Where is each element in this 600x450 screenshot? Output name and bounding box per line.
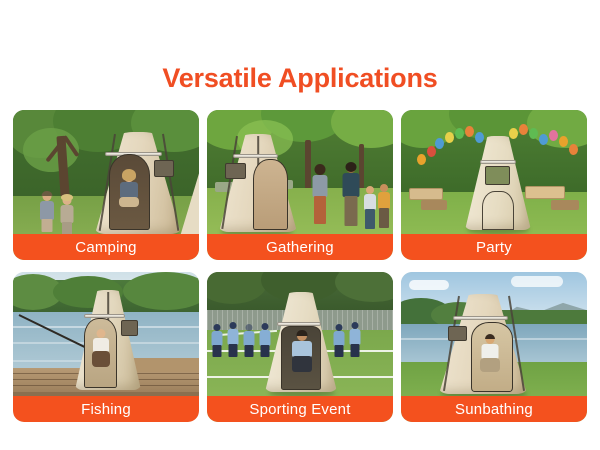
player-legs (213, 345, 222, 357)
player-figure (349, 322, 361, 358)
person-legs (92, 351, 110, 367)
child-figure (377, 184, 391, 230)
player-helmet (352, 322, 359, 329)
card-label-text: Party (476, 240, 512, 255)
player-helmet (246, 324, 253, 331)
balloon (539, 134, 548, 145)
player-jersey (228, 329, 239, 345)
cloud (409, 280, 449, 290)
seated-man (478, 335, 502, 377)
person-hair (122, 169, 136, 181)
privacy-tent (75, 290, 141, 390)
child-figure (59, 196, 75, 236)
player-figure (227, 322, 239, 358)
seated-man (290, 331, 314, 375)
player-legs (245, 345, 254, 357)
tent-window (121, 320, 138, 336)
player-jersey (350, 329, 361, 345)
person-shirt (93, 338, 109, 352)
child-legs (379, 208, 389, 228)
child-top (378, 192, 390, 209)
tent-rail (233, 154, 278, 158)
balloon (559, 136, 568, 147)
person-shirt (481, 344, 498, 359)
person-shirt (292, 341, 312, 357)
child-hair (61, 194, 73, 201)
child-head (366, 186, 374, 194)
adult-figure (311, 166, 329, 228)
child-figure (363, 186, 377, 230)
tent-window (225, 163, 245, 179)
balloon (445, 132, 454, 143)
person-hair (296, 330, 307, 336)
application-card-party[interactable]: Party (401, 110, 587, 260)
card-label-gathering[interactable]: Gathering (207, 234, 393, 260)
balloon (435, 138, 444, 149)
child-head (380, 184, 388, 192)
card-label-text: Camping (75, 240, 136, 255)
person-pants (345, 196, 358, 226)
person-pants (314, 196, 326, 224)
application-card-sporting-event[interactable]: Sporting Event (207, 272, 393, 422)
card-label-sunbathing[interactable]: Sunbathing (401, 396, 587, 422)
tent-doorway (482, 191, 514, 230)
privacy-tent (95, 132, 181, 234)
player-jersey (244, 331, 255, 346)
player-legs (229, 344, 238, 357)
picnic-bench (551, 200, 579, 210)
tent-doorway (253, 159, 287, 230)
person-legs (480, 358, 500, 372)
card-label-text: Gathering (266, 240, 334, 255)
applications-grid: Camping (13, 110, 587, 422)
page-title: Versatile Applications (0, 62, 600, 94)
picnic-table (409, 188, 443, 200)
player-legs (351, 344, 360, 357)
player-helmet (214, 324, 221, 331)
application-card-fishing[interactable]: Fishing (13, 272, 199, 422)
balloon (519, 124, 528, 135)
card-label-sporting-event[interactable]: Sporting Event (207, 396, 393, 422)
player-figure (211, 324, 223, 358)
person-hair (315, 164, 326, 175)
balloon (455, 128, 464, 139)
application-card-gathering[interactable]: Gathering (207, 110, 393, 260)
tent-window (485, 166, 510, 185)
seated-woman (118, 171, 140, 211)
child-legs (365, 209, 375, 229)
person-hair (346, 162, 357, 172)
tent-doorway (471, 322, 513, 392)
cloud (511, 276, 563, 287)
card-label-party[interactable]: Party (401, 234, 587, 260)
tent-doorway (84, 318, 117, 388)
tent-rail (480, 160, 517, 164)
tent-doorway (281, 326, 321, 390)
tent-rail (453, 316, 508, 320)
child-jacket (61, 205, 74, 223)
tent-window (448, 326, 467, 341)
balloon (569, 144, 578, 155)
person-top (343, 173, 360, 197)
person-legs (119, 197, 139, 207)
card-label-text: Fishing (81, 402, 131, 417)
picnic-table (525, 186, 565, 199)
card-label-text: Sunbathing (455, 402, 533, 417)
person-top (313, 175, 328, 197)
balloon (417, 154, 426, 165)
adult-figure (341, 164, 361, 230)
child-legs (42, 219, 53, 232)
person-legs (292, 356, 312, 372)
dock-far-section (133, 358, 199, 372)
privacy-tent (439, 294, 527, 394)
picnic-bench (421, 200, 447, 210)
person-hair (485, 334, 495, 339)
seated-angler (91, 329, 111, 369)
player-figure (243, 324, 255, 358)
versatile-applications-panel: Versatile Applications (0, 0, 600, 450)
application-card-camping[interactable]: Camping (13, 110, 199, 260)
child-hat (42, 191, 53, 196)
player-helmet (230, 322, 237, 329)
balloon (549, 130, 558, 141)
privacy-tent (465, 136, 531, 230)
privacy-tent (219, 134, 297, 232)
child-figure (39, 192, 55, 234)
card-label-camping[interactable]: Camping (13, 234, 199, 260)
child-jacket (40, 201, 54, 220)
privacy-tent (265, 292, 337, 392)
card-label-fishing[interactable]: Fishing (13, 396, 199, 422)
child-top (364, 194, 376, 210)
balloon (427, 146, 436, 157)
tent-window (154, 160, 175, 177)
player-jersey (212, 331, 223, 346)
card-label-text: Sporting Event (249, 402, 350, 417)
person-shirt (120, 182, 138, 198)
tent-doorway (109, 154, 150, 229)
person-head (97, 329, 106, 338)
application-card-sunbathing[interactable]: Sunbathing (401, 272, 587, 422)
